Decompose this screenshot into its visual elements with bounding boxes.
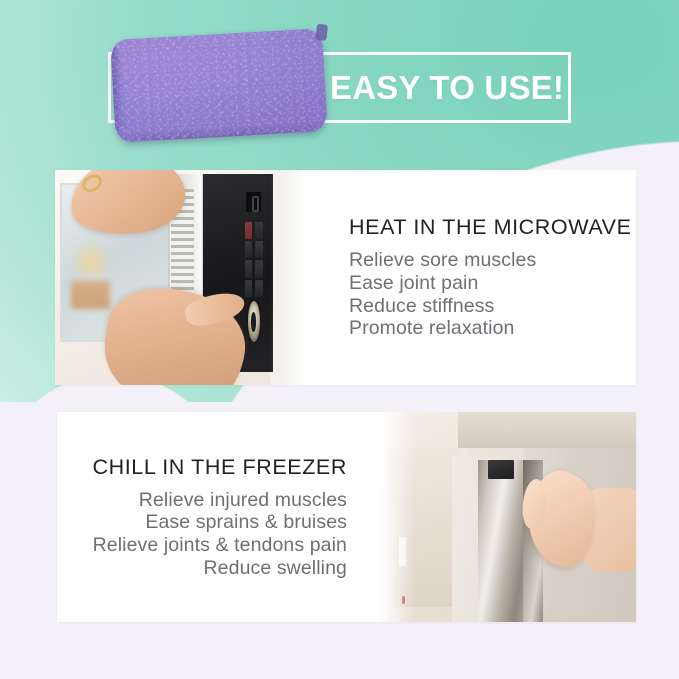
microwave-photo: [55, 170, 305, 385]
heat-copy-block: HEAT IN THE MICROWAVE Relieve sore muscl…: [305, 170, 636, 385]
microwave-button-grid: [245, 222, 263, 297]
list-item: Relieve injured muscles: [93, 489, 347, 512]
pillow-corner-fold: [315, 24, 328, 41]
microwave-button: [245, 260, 252, 277]
list-item: Reduce swelling: [93, 557, 347, 580]
fridge-shelf-item: [399, 537, 406, 566]
product-pillow: [110, 24, 331, 148]
hero-title: EASY TO USE!: [330, 52, 560, 123]
pillow-body: [110, 28, 327, 143]
list-item: Ease joint pain: [349, 272, 536, 295]
fridge-upper-cabinet: [458, 412, 637, 448]
gold-bangle: [79, 171, 105, 196]
list-item: Reduce stiffness: [349, 295, 536, 318]
freezer-photo: [381, 412, 636, 622]
heat-benefit-list: Relieve sore muscles Ease joint pain Red…: [349, 249, 536, 339]
window-counter-reflection: [71, 281, 110, 309]
microwave-button: [255, 241, 262, 258]
list-item: Relieve joints & tendons pain: [93, 534, 347, 557]
fridge-red-item: [402, 596, 405, 604]
hero-banner: EASY TO USE!: [0, 0, 679, 165]
infographic-stage: EASY TO USE!: [0, 0, 679, 679]
pillow-left-seam: [110, 45, 127, 142]
window-reflection: [74, 238, 109, 284]
microwave-button: [245, 280, 252, 297]
microwave-display: [246, 192, 261, 212]
chill-benefit-list: Relieve injured muscles Ease sprains & b…: [93, 489, 347, 579]
microwave-button: [245, 241, 252, 258]
fridge-interior: [391, 448, 460, 608]
pillow-bottom-seam: [118, 122, 324, 142]
microwave-dial-knob: [248, 301, 260, 343]
door-top-bracket: [488, 460, 514, 479]
microwave-button: [255, 280, 262, 297]
list-item: Relieve sore muscles: [349, 249, 536, 272]
microwave-button: [255, 260, 262, 277]
heat-card: HEAT IN THE MICROWAVE Relieve sore muscl…: [55, 170, 636, 385]
heat-heading: HEAT IN THE MICROWAVE: [349, 215, 632, 240]
microwave-button: [245, 222, 252, 239]
chill-heading: CHILL IN THE FREEZER: [92, 455, 347, 480]
chill-card: CHILL IN THE FREEZER Relieve injured mus…: [57, 412, 636, 622]
microwave-button: [255, 222, 262, 239]
chill-copy-block: CHILL IN THE FREEZER Relieve injured mus…: [57, 412, 381, 622]
microwave-side-body: [270, 170, 305, 385]
list-item: Ease sprains & bruises: [93, 511, 347, 534]
list-item: Promote relaxation: [349, 317, 536, 340]
stainless-door-panel: [478, 460, 529, 622]
